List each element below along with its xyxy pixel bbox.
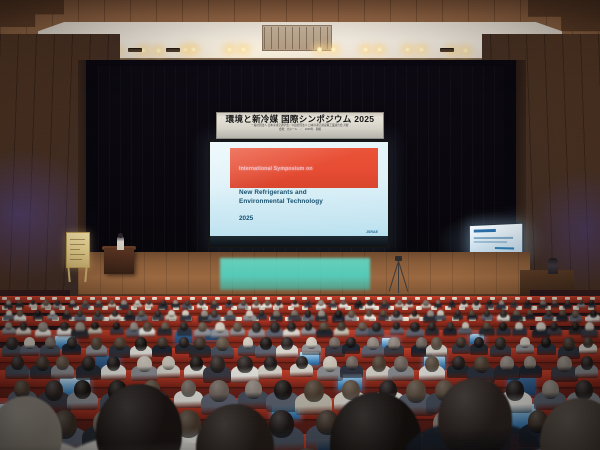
ceiling-spotlight: [155, 48, 162, 53]
banner-title: 環境と新冷媒 国際シンポジウム 2025: [226, 114, 375, 124]
seat-headrest-cover: [77, 297, 82, 300]
audience-member-head: [260, 337, 272, 350]
audience-member-head: [130, 322, 139, 332]
audience-member-head: [185, 300, 191, 306]
audience-member-head: [6, 300, 11, 306]
audience-member-head: [137, 356, 151, 372]
audience-member-head: [455, 310, 461, 316]
audience-member-head: [243, 337, 254, 349]
audience-member-head: [366, 310, 372, 317]
audience-member-head: [237, 356, 252, 373]
audience-member-head: [540, 300, 545, 306]
audience-member-head: [305, 322, 313, 331]
audience-member-head: [36, 356, 49, 371]
audience-member-head: [410, 322, 419, 332]
audience-member-head: [589, 300, 593, 305]
seat-headrest-cover: [440, 297, 445, 300]
audience-member-head: [527, 310, 533, 316]
side-monitor-heading-line: [474, 229, 496, 232]
audience-member-head: [6, 310, 12, 317]
audience-member-head: [168, 310, 174, 317]
audience-member-head: [506, 380, 524, 401]
audience-member-head: [254, 300, 259, 306]
audience-member-head: [276, 300, 281, 306]
audience-member-head: [423, 300, 428, 306]
audience-member-head: [55, 300, 60, 306]
audience-member-head: [590, 310, 597, 318]
audience-member-head: [427, 310, 434, 318]
audience-member-head: [474, 300, 479, 306]
audience-member-head: [305, 310, 312, 318]
audience-member-head: [83, 300, 88, 306]
audience-member-head: [252, 322, 261, 333]
audience-member-head: [67, 337, 77, 349]
ceiling-vent-slot: [166, 48, 180, 52]
audience-member-head: [96, 300, 101, 305]
audience-member-head: [412, 310, 418, 317]
audience-member-head: [157, 337, 168, 349]
audience-member-head: [24, 337, 35, 349]
audience-member-head: [95, 310, 101, 317]
audience-member-head: [198, 322, 207, 332]
audience-member-head: [367, 300, 372, 306]
audience-member-head: [241, 300, 246, 306]
seat-headrest-cover: [402, 297, 407, 300]
audience-member-head: [11, 356, 24, 370]
screen-glare: [210, 142, 388, 246]
audience-member-head: [469, 310, 475, 317]
audience-member-head: [394, 356, 408, 372]
audience-member-head: [199, 300, 204, 306]
audience-member-head: [246, 310, 253, 318]
audience-member-head: [583, 337, 593, 348]
side-monitor-body-line-1: [474, 237, 513, 239]
audience-member-head: [500, 310, 507, 318]
audience-member-head: [306, 300, 310, 305]
audience-member-head: [536, 322, 545, 332]
audience-member-head: [20, 322, 28, 331]
audience-member-head: [499, 300, 505, 306]
audience-member-head: [91, 322, 98, 330]
audience-member-head: [452, 356, 464, 370]
audience-member-head: [581, 356, 594, 370]
event-banner: 環境と新冷媒 国際シンポジウム 2025 一般社団法人 日本冷凍空調学会／公益社…: [216, 112, 384, 139]
seat-headrest-cover: [140, 297, 145, 300]
audience-member-head: [372, 356, 386, 372]
audience-member-head: [296, 356, 308, 369]
projection-screen-frame: International Symposium on New Refrigera…: [208, 140, 390, 248]
audience-member-head: [546, 310, 552, 317]
audience-member-head: [287, 322, 296, 332]
ceiling-vent-slot: [128, 48, 142, 52]
audience-member-head: [304, 380, 324, 402]
audience-member-head: [70, 300, 75, 305]
audience-member-head: [447, 322, 455, 331]
audience-member-head: [542, 380, 559, 399]
audience-member-head: [346, 337, 356, 348]
audience-member-head: [524, 356, 536, 370]
audience-member-head: [201, 310, 208, 318]
audience-member-head: [43, 300, 48, 306]
sign-legs: [66, 266, 88, 282]
seat-headrest-cover: [65, 297, 70, 300]
audience-member-head: [182, 310, 189, 317]
audience-member-head: [358, 322, 366, 331]
audience-member-head: [512, 300, 516, 305]
audience-member-head: [585, 322, 594, 332]
ceiling-vent-slot: [440, 48, 454, 52]
audience-member-head: [110, 300, 114, 305]
audience-member-head: [407, 300, 411, 305]
audience-member-head: [35, 310, 41, 316]
audience-member-head: [372, 322, 381, 332]
ceiling-spotlight: [462, 48, 469, 53]
audience-member-head: [367, 337, 379, 350]
presenter-head: [118, 233, 123, 238]
foreground-audience-head: [438, 378, 512, 450]
audience-member-head: [431, 337, 442, 350]
seat-headrest-cover: [190, 297, 195, 300]
audience-member-head: [337, 322, 345, 331]
audience-member-head: [135, 300, 140, 305]
camera-tripod: [390, 256, 406, 294]
seat-headrest-cover: [390, 297, 395, 300]
audience-member-head: [319, 322, 328, 332]
audience-member-head: [6, 337, 17, 350]
side-monitor-body-line-2: [474, 241, 507, 243]
audience-member-head: [318, 310, 325, 318]
audience-member-head: [91, 337, 102, 350]
audience-member-head: [75, 322, 84, 333]
audience-member-head: [190, 356, 203, 371]
audience-member-head: [194, 337, 206, 350]
screen-lower-bar: [210, 236, 388, 246]
audience-member-head: [60, 322, 68, 331]
audience-member-head: [181, 380, 197, 397]
side-monitor-footer-line: [495, 247, 514, 250]
audience-member-head: [559, 310, 566, 317]
audience-member-head: [147, 300, 151, 305]
audience-member-head: [563, 337, 575, 351]
audience-member-head: [323, 356, 337, 372]
audience-member-head: [456, 337, 466, 348]
audience-member-head: [318, 300, 323, 306]
audience-member-head: [17, 300, 22, 305]
audience-member-head: [483, 322, 491, 331]
seat-headrest-cover: [152, 297, 157, 300]
auditorium-photo: 環境と新冷媒 国際シンポジウム 2025 一般社団法人 日本冷凍空調学会／公益社…: [0, 0, 600, 450]
audience-member-head: [499, 322, 507, 331]
audience-member-head: [291, 310, 298, 317]
audience-member-head: [173, 300, 177, 305]
audience-member-head: [45, 380, 63, 401]
audience-member-head: [306, 337, 316, 349]
audience-member-head: [572, 322, 580, 331]
audience-member-head: [179, 337, 189, 348]
seat-headrest-cover: [377, 297, 382, 300]
seat-headrest-cover: [177, 297, 182, 300]
audience-member-head: [162, 356, 175, 370]
audience-member-head: [74, 380, 91, 399]
banner-subline-1: 一般社団法人 日本冷凍空調学会／公益社団法人 日本冷凍空調設備工業連合会 共催: [251, 124, 348, 128]
audience-member-head: [425, 356, 439, 372]
audience-member-head: [552, 300, 557, 305]
audience-member-head: [565, 300, 570, 306]
audience-member-head: [281, 337, 293, 350]
presenter-at-podium: [117, 236, 124, 250]
seat-headrest-cover: [115, 297, 120, 300]
audience-member-head: [348, 310, 355, 318]
audience-member-head: [397, 300, 401, 305]
side-operator-person: [548, 258, 558, 274]
audience-member-head: [557, 356, 572, 372]
seat-headrest-cover: [102, 297, 107, 300]
audience-member-head: [270, 322, 280, 333]
audience-member-head: [428, 322, 436, 331]
audience-member-head: [209, 380, 229, 402]
audience-member-head: [495, 337, 506, 350]
audience-member-head: [121, 300, 127, 306]
audience-member-head: [127, 310, 133, 317]
audience-member-head: [520, 337, 529, 348]
audience-member-head: [437, 310, 443, 317]
projection-screen: International Symposium on New Refrigera…: [210, 142, 388, 246]
banner-subline-2: 会場：大ホール ／ 2025年 開催: [279, 128, 321, 132]
audience-member-head: [82, 356, 95, 371]
audience-member-head: [45, 337, 56, 349]
audience-member-head: [135, 337, 147, 351]
audience-member-head: [56, 356, 69, 370]
seat-headrest-cover: [165, 297, 170, 300]
audience-member-head: [356, 300, 361, 306]
audience-member-head: [346, 356, 358, 370]
stage-projection-reflection: [220, 258, 370, 290]
audience-member-head: [274, 380, 292, 400]
audience-member-head: [515, 322, 523, 331]
audience-member-head: [216, 337, 228, 351]
audience-member-head: [107, 356, 120, 371]
audience-member-head: [212, 300, 217, 306]
seat-headrest-cover: [402, 317, 409, 321]
audience-member-head: [406, 380, 426, 403]
seat-headrest-cover: [90, 297, 95, 300]
audience-member-head: [215, 322, 224, 333]
audience-member-head: [474, 356, 489, 373]
audience-member-head: [245, 380, 262, 399]
audience-member-head: [273, 310, 280, 318]
seat-headrest-cover: [235, 317, 242, 321]
seat-headrest-cover: [85, 317, 92, 321]
audience-member-head: [388, 337, 399, 350]
lectern: [104, 248, 134, 274]
audience-member-head: [265, 300, 270, 306]
seat-headrest-cover: [127, 297, 132, 300]
seat-headrest-cover: [415, 297, 420, 300]
audience-member-head: [380, 310, 386, 317]
audience-member-head: [500, 356, 514, 371]
audience-member-head: [210, 356, 225, 373]
audience-member-head: [31, 300, 35, 305]
audience-member-head: [114, 337, 126, 350]
audience-member-head: [233, 322, 242, 332]
audience-member-head: [264, 356, 277, 371]
audience-member-head: [143, 322, 152, 332]
audience-member-head: [161, 322, 169, 331]
audience-member-head: [155, 310, 161, 317]
floor-standing-sign: [66, 232, 90, 268]
audience-member-head: [112, 310, 118, 317]
audience-member-head: [484, 310, 490, 317]
audience-member-head: [38, 322, 47, 332]
seat-headrest-cover: [535, 317, 542, 321]
tripod-leg: [398, 261, 399, 293]
audience-member-head: [161, 300, 166, 306]
